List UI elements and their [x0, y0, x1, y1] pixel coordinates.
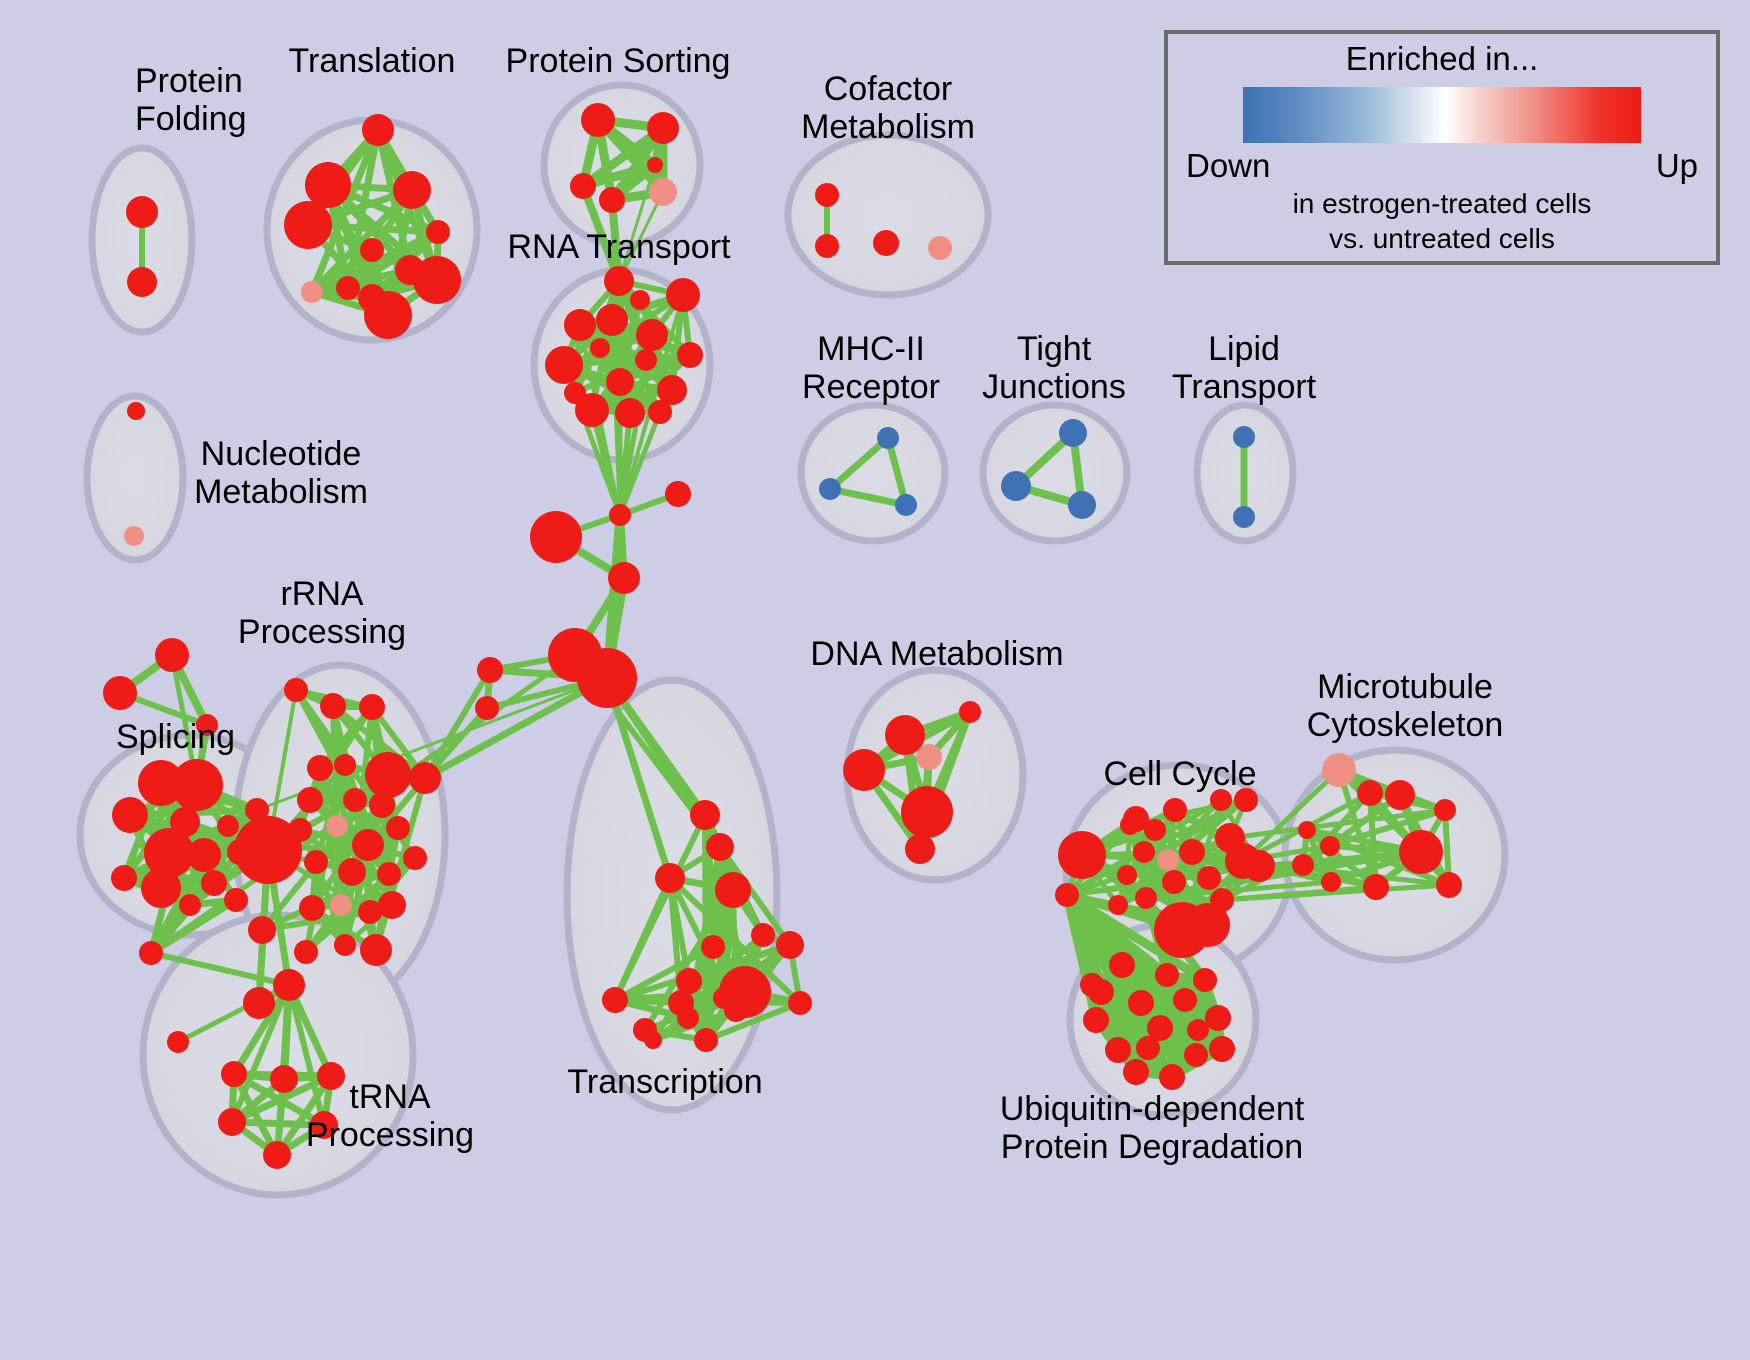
legend-title: Enriched in... — [1168, 40, 1716, 78]
network-node[interactable] — [1436, 872, 1462, 898]
cluster-label: Tight Junctions — [982, 330, 1126, 406]
network-node[interactable] — [365, 752, 411, 798]
network-node[interactable] — [665, 481, 691, 507]
network-node[interactable] — [1321, 872, 1341, 892]
network-node[interactable] — [1120, 815, 1140, 835]
network-node[interactable] — [378, 891, 406, 919]
cluster-label: Microtubule Cytoskeleton — [1307, 668, 1504, 744]
network-node[interactable] — [369, 792, 395, 818]
cluster-ellipse — [544, 85, 700, 245]
network-node[interactable] — [577, 648, 637, 708]
cluster-label: Protein Folding — [135, 62, 247, 138]
network-node[interactable] — [609, 504, 631, 526]
network-node[interactable] — [124, 526, 144, 546]
network-node[interactable] — [377, 862, 401, 886]
network-node[interactable] — [1055, 883, 1079, 907]
network-node[interactable] — [901, 786, 953, 838]
network-node[interactable] — [602, 987, 628, 1013]
network-node[interactable] — [615, 398, 645, 428]
network-node[interactable] — [648, 400, 672, 424]
network-node[interactable] — [1173, 988, 1197, 1012]
network-node[interactable] — [307, 755, 333, 781]
network-node[interactable] — [179, 894, 201, 916]
network-node[interactable] — [362, 114, 394, 146]
network-node[interactable] — [788, 991, 812, 1015]
network-node[interactable] — [284, 201, 332, 249]
network-node[interactable] — [706, 833, 734, 861]
network-node[interactable] — [701, 935, 725, 959]
enrichment-map-figure: Protein FoldingTranslationProtein Sortin… — [0, 0, 1750, 1360]
network-node[interactable] — [301, 281, 323, 303]
network-node[interactable] — [360, 934, 392, 966]
network-node[interactable] — [819, 478, 841, 500]
network-node[interactable] — [221, 1061, 247, 1087]
network-node[interactable] — [1184, 1043, 1208, 1067]
network-node[interactable] — [297, 787, 323, 813]
network-node[interactable] — [1399, 830, 1443, 874]
network-node[interactable] — [403, 846, 427, 870]
network-node[interactable] — [294, 940, 318, 964]
network-node[interactable] — [530, 511, 582, 563]
network-node[interactable] — [284, 678, 308, 702]
network-node[interactable] — [649, 178, 677, 206]
network-node[interactable] — [1205, 1005, 1231, 1031]
network-node[interactable] — [218, 1108, 246, 1136]
network-node[interactable] — [217, 815, 239, 837]
network-node[interactable] — [1243, 850, 1275, 882]
color-scale-bar — [1243, 87, 1641, 143]
network-node[interactable] — [928, 236, 952, 260]
network-node[interactable] — [1187, 1019, 1209, 1041]
legend-caption-line-2: vs. untreated cells — [1168, 222, 1716, 255]
cluster-label: Transcription — [567, 1063, 762, 1101]
legend-caption-line-1: in estrogen-treated cells — [1168, 187, 1716, 220]
network-node[interactable] — [606, 368, 634, 396]
cluster-label: MHC-II Receptor — [802, 330, 940, 406]
network-node[interactable] — [248, 916, 276, 944]
network-node[interactable] — [1123, 1059, 1149, 1085]
network-node[interactable] — [630, 290, 650, 310]
network-node[interactable] — [127, 402, 145, 420]
network-node[interactable] — [1233, 506, 1255, 528]
network-node[interactable] — [112, 797, 148, 833]
network-node[interactable] — [126, 196, 158, 228]
network-node[interactable] — [224, 888, 248, 912]
network-node[interactable] — [360, 238, 384, 262]
network-node[interactable] — [1059, 419, 1087, 447]
network-node[interactable] — [426, 220, 450, 244]
network-node[interactable] — [751, 923, 775, 947]
network-node[interactable] — [1197, 866, 1221, 890]
network-node[interactable] — [1322, 753, 1356, 787]
network-node[interactable] — [304, 850, 328, 874]
network-node[interactable] — [320, 693, 346, 719]
network-node[interactable] — [243, 987, 275, 1019]
network-node[interactable] — [1157, 849, 1179, 871]
cluster-label: tRNA Processing — [306, 1078, 474, 1154]
network-node[interactable] — [895, 494, 917, 516]
network-node[interactable] — [1209, 1036, 1235, 1062]
legend-low-label: Down — [1186, 147, 1270, 185]
network-node[interactable] — [352, 829, 384, 861]
network-node[interactable] — [1179, 839, 1205, 865]
network-node[interactable] — [776, 931, 804, 959]
network-node[interactable] — [1136, 1036, 1160, 1060]
cluster-label: Splicing — [116, 718, 235, 756]
cluster-label: rRNA Processing — [238, 575, 406, 651]
network-node[interactable] — [1133, 841, 1155, 863]
network-node[interactable] — [694, 1028, 718, 1052]
network-node[interactable] — [916, 744, 942, 770]
cluster-label: RNA Transport — [508, 228, 731, 266]
cluster-label: Translation — [289, 42, 456, 80]
network-node[interactable] — [647, 112, 679, 144]
network-node[interactable] — [1105, 1037, 1131, 1063]
network-node[interactable] — [647, 157, 663, 173]
cluster-label: Lipid Transport — [1172, 330, 1316, 406]
network-node[interactable] — [139, 941, 163, 965]
network-node[interactable] — [570, 173, 596, 199]
network-node[interactable] — [201, 870, 227, 896]
network-node[interactable] — [336, 276, 360, 300]
network-node[interactable] — [1385, 780, 1415, 810]
network-node[interactable] — [141, 868, 181, 908]
network-node[interactable] — [1210, 888, 1234, 912]
cluster-ellipse — [801, 405, 945, 541]
network-node[interactable] — [171, 759, 223, 811]
cluster-label: Ubiquitin-dependent Protein Degradation — [1000, 1090, 1304, 1166]
network-node[interactable] — [330, 894, 352, 916]
cluster-label: Nucleotide Metabolism — [194, 435, 368, 511]
network-node[interactable] — [715, 872, 751, 908]
network-node[interactable] — [1193, 968, 1217, 992]
network-node[interactable] — [1083, 1007, 1109, 1033]
network-node[interactable] — [1233, 426, 1255, 448]
network-node[interactable] — [364, 291, 412, 339]
network-node[interactable] — [386, 816, 410, 840]
network-node[interactable] — [713, 987, 735, 1009]
network-node[interactable] — [596, 304, 628, 336]
network-node[interactable] — [1292, 854, 1314, 876]
network-node[interactable] — [655, 863, 685, 893]
network-node[interactable] — [590, 338, 610, 358]
network-node[interactable] — [1108, 895, 1128, 915]
network-node[interactable] — [127, 267, 157, 297]
network-node[interactable] — [1080, 973, 1104, 997]
network-node[interactable] — [564, 309, 596, 341]
network-node[interactable] — [409, 762, 441, 794]
network-node[interactable] — [1109, 952, 1135, 978]
legend-high-label: Up — [1656, 147, 1698, 185]
cluster-label: Protein Sorting — [506, 42, 731, 80]
network-node[interactable] — [334, 754, 356, 776]
network-node[interactable] — [599, 187, 625, 213]
network-node[interactable] — [326, 815, 348, 837]
network-node[interactable] — [1135, 887, 1157, 909]
network-node[interactable] — [359, 694, 385, 720]
network-node[interactable] — [959, 701, 981, 723]
network-node[interactable] — [815, 234, 839, 258]
network-node[interactable] — [1155, 963, 1179, 987]
network-node[interactable] — [111, 865, 137, 891]
network-node[interactable] — [1001, 471, 1031, 501]
network-node[interactable] — [545, 346, 583, 384]
network-node[interactable] — [677, 342, 703, 368]
network-node[interactable] — [690, 800, 720, 830]
network-node[interactable] — [1163, 798, 1187, 822]
network-node[interactable] — [1434, 799, 1456, 821]
network-node[interactable] — [477, 657, 503, 683]
network-node[interactable] — [905, 834, 935, 864]
network-node[interactable] — [338, 858, 366, 886]
network-node[interactable] — [1363, 874, 1389, 900]
cluster-ellipse — [788, 135, 988, 295]
network-node[interactable] — [815, 183, 839, 207]
network-node[interactable] — [604, 266, 634, 296]
network-node[interactable] — [608, 562, 640, 594]
cluster-label: Cell Cycle — [1103, 755, 1256, 793]
network-node[interactable] — [636, 319, 668, 351]
network-node[interactable] — [877, 427, 899, 449]
network-node[interactable] — [1159, 1064, 1185, 1090]
network-node[interactable] — [1058, 831, 1106, 879]
legend-box: Enriched in... Down Up in estrogen-treat… — [1164, 30, 1720, 265]
network-node[interactable] — [1298, 821, 1316, 839]
network-node[interactable] — [103, 676, 137, 710]
network-node[interactable] — [270, 1065, 298, 1093]
network-node[interactable] — [299, 895, 325, 921]
network-node[interactable] — [305, 162, 351, 208]
network-node[interactable] — [1117, 865, 1137, 885]
network-node[interactable] — [273, 969, 305, 1001]
network-node[interactable] — [1357, 780, 1383, 806]
network-node[interactable] — [644, 1031, 662, 1049]
network-node[interactable] — [1128, 990, 1154, 1016]
network-node[interactable] — [263, 1141, 291, 1169]
network-node[interactable] — [1144, 819, 1166, 841]
network-node[interactable] — [167, 1031, 189, 1053]
network-node[interactable] — [666, 278, 700, 312]
network-node[interactable] — [873, 230, 899, 256]
network-node[interactable] — [393, 171, 431, 209]
network-node[interactable] — [635, 349, 657, 371]
network-node[interactable] — [245, 798, 269, 822]
network-node[interactable] — [343, 788, 367, 812]
network-node[interactable] — [1162, 870, 1186, 894]
network-node[interactable] — [843, 749, 885, 791]
cluster-ellipse — [983, 405, 1127, 541]
cluster-label: Cofactor Metabolism — [801, 70, 975, 146]
network-node[interactable] — [155, 638, 189, 672]
network-node[interactable] — [187, 838, 221, 872]
network-node[interactable] — [1068, 491, 1096, 519]
network-node[interactable] — [668, 990, 694, 1016]
network-node[interactable] — [334, 934, 356, 956]
network-node[interactable] — [581, 103, 615, 137]
network-node[interactable] — [475, 696, 499, 720]
network-node[interactable] — [564, 382, 586, 404]
cluster-label: DNA Metabolism — [810, 635, 1063, 673]
network-node[interactable] — [1320, 836, 1340, 856]
network-node[interactable] — [288, 818, 312, 842]
network-node[interactable] — [413, 256, 461, 304]
